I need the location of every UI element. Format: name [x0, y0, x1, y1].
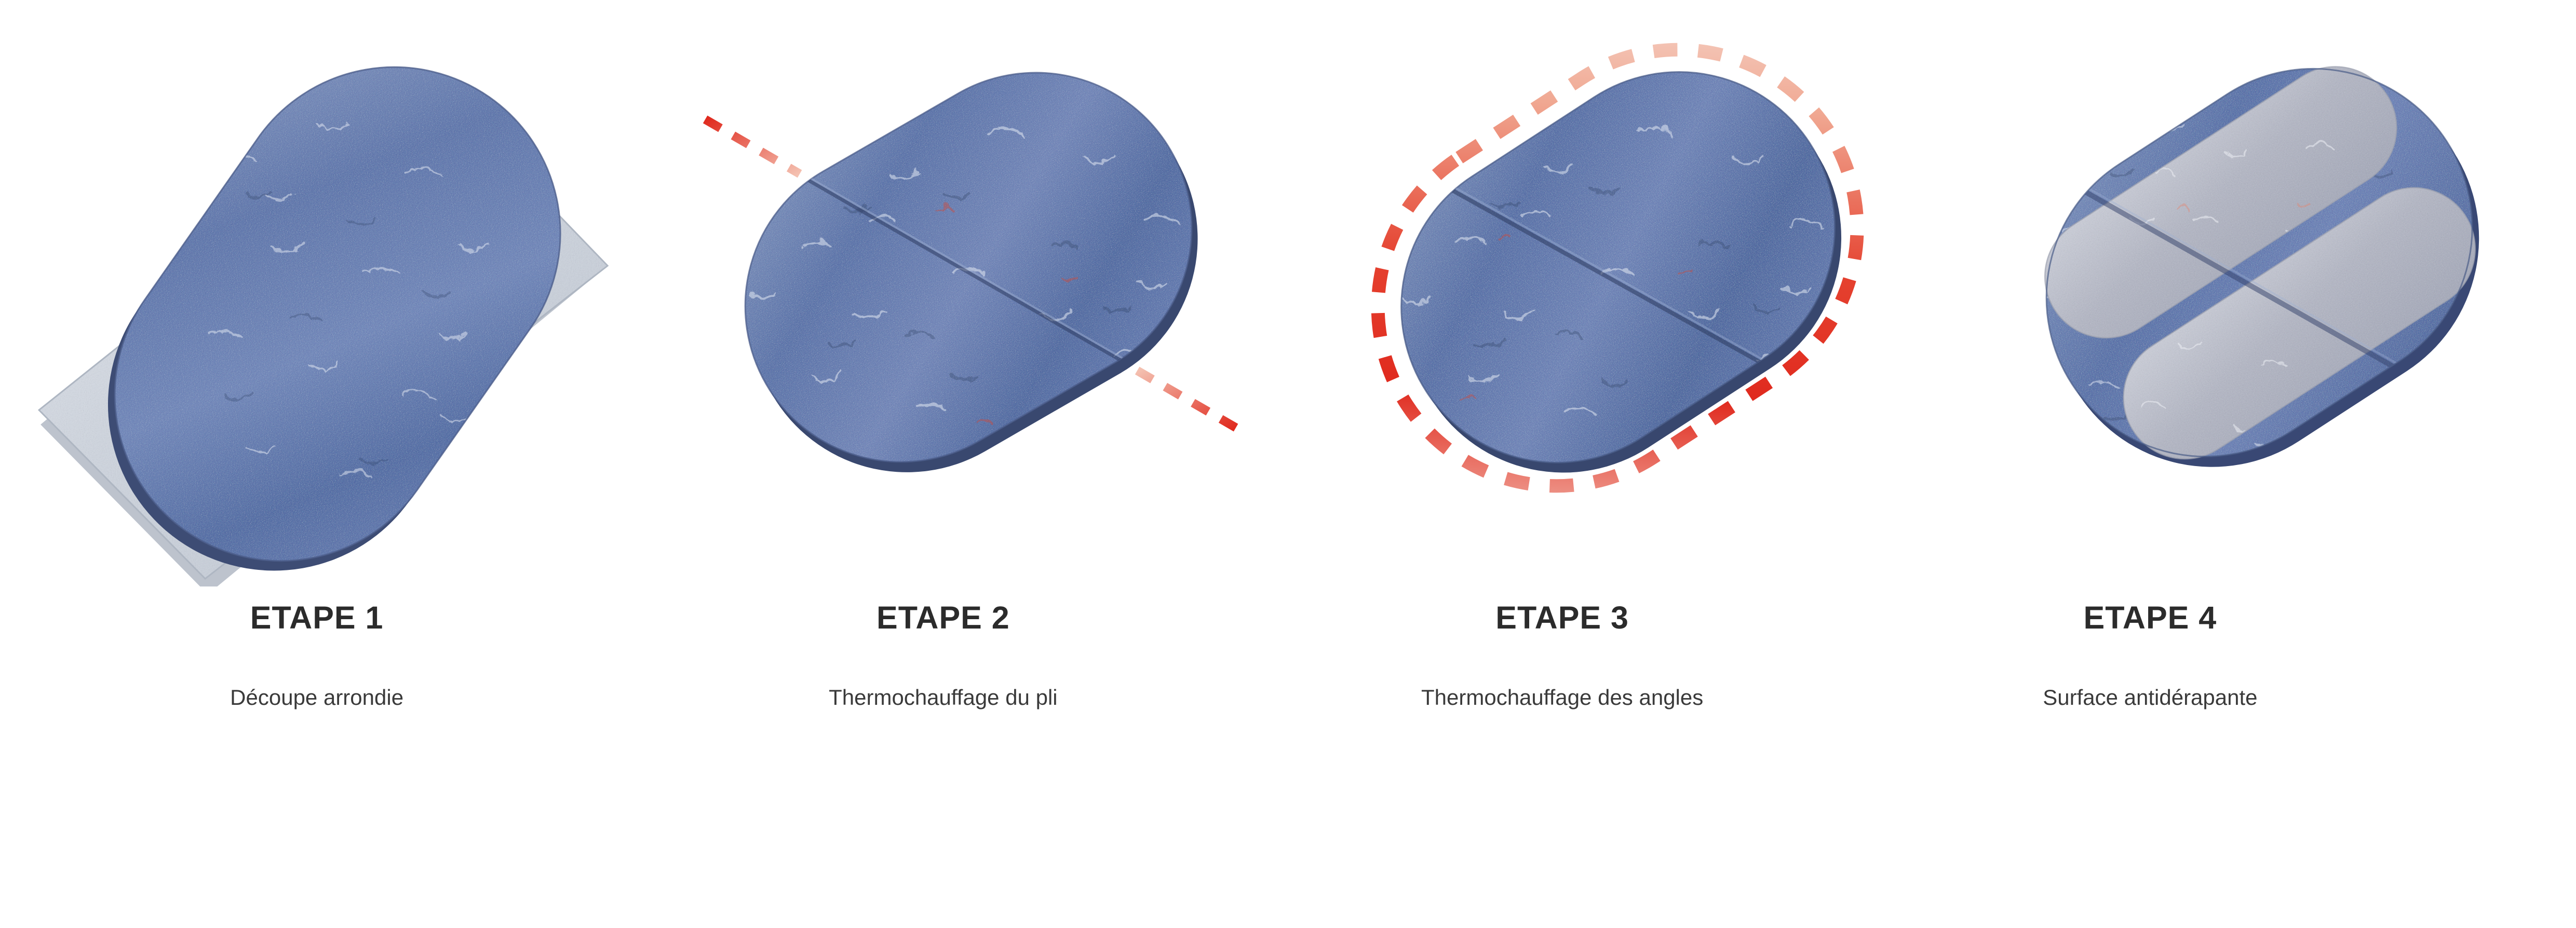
step-card-2: ETAPE 2 Thermochauffage du pli: [644, 0, 1288, 928]
step-card-4: ETAPE 4 Surface antidérapante: [1932, 0, 2576, 928]
step-2-illustration: [644, 0, 1288, 586]
step-3-illustration: [1288, 0, 1932, 586]
steps-row: ETAPE 1 Découpe arrondie: [0, 0, 2576, 928]
step-4-illustration: [1932, 0, 2576, 586]
fold-dashed-line-right: [1137, 371, 1236, 428]
felt-oval-mat: [689, 16, 1249, 519]
step-title-3: ETAPE 3: [1240, 599, 1884, 636]
felt-oval-mat: [1341, 12, 1894, 522]
step-card-3: ETAPE 3 Thermochauffage des angles: [1288, 0, 1932, 928]
fold-dashed-line-left: [705, 119, 800, 174]
step-subtitle-4: Surface antidérapante: [1828, 685, 2472, 710]
step-1-illustration: [0, 0, 644, 586]
step-subtitle-1: Découpe arrondie: [0, 685, 639, 710]
step-title-4: ETAPE 4: [1828, 599, 2472, 636]
step-subtitle-3: Thermochauffage des angles: [1240, 685, 1884, 710]
step-title-2: ETAPE 2: [621, 599, 1265, 636]
step-title-1: ETAPE 1: [0, 599, 639, 636]
step-card-1: ETAPE 1 Découpe arrondie: [0, 0, 644, 928]
step-subtitle-2: Thermochauffage du pli: [621, 685, 1265, 710]
